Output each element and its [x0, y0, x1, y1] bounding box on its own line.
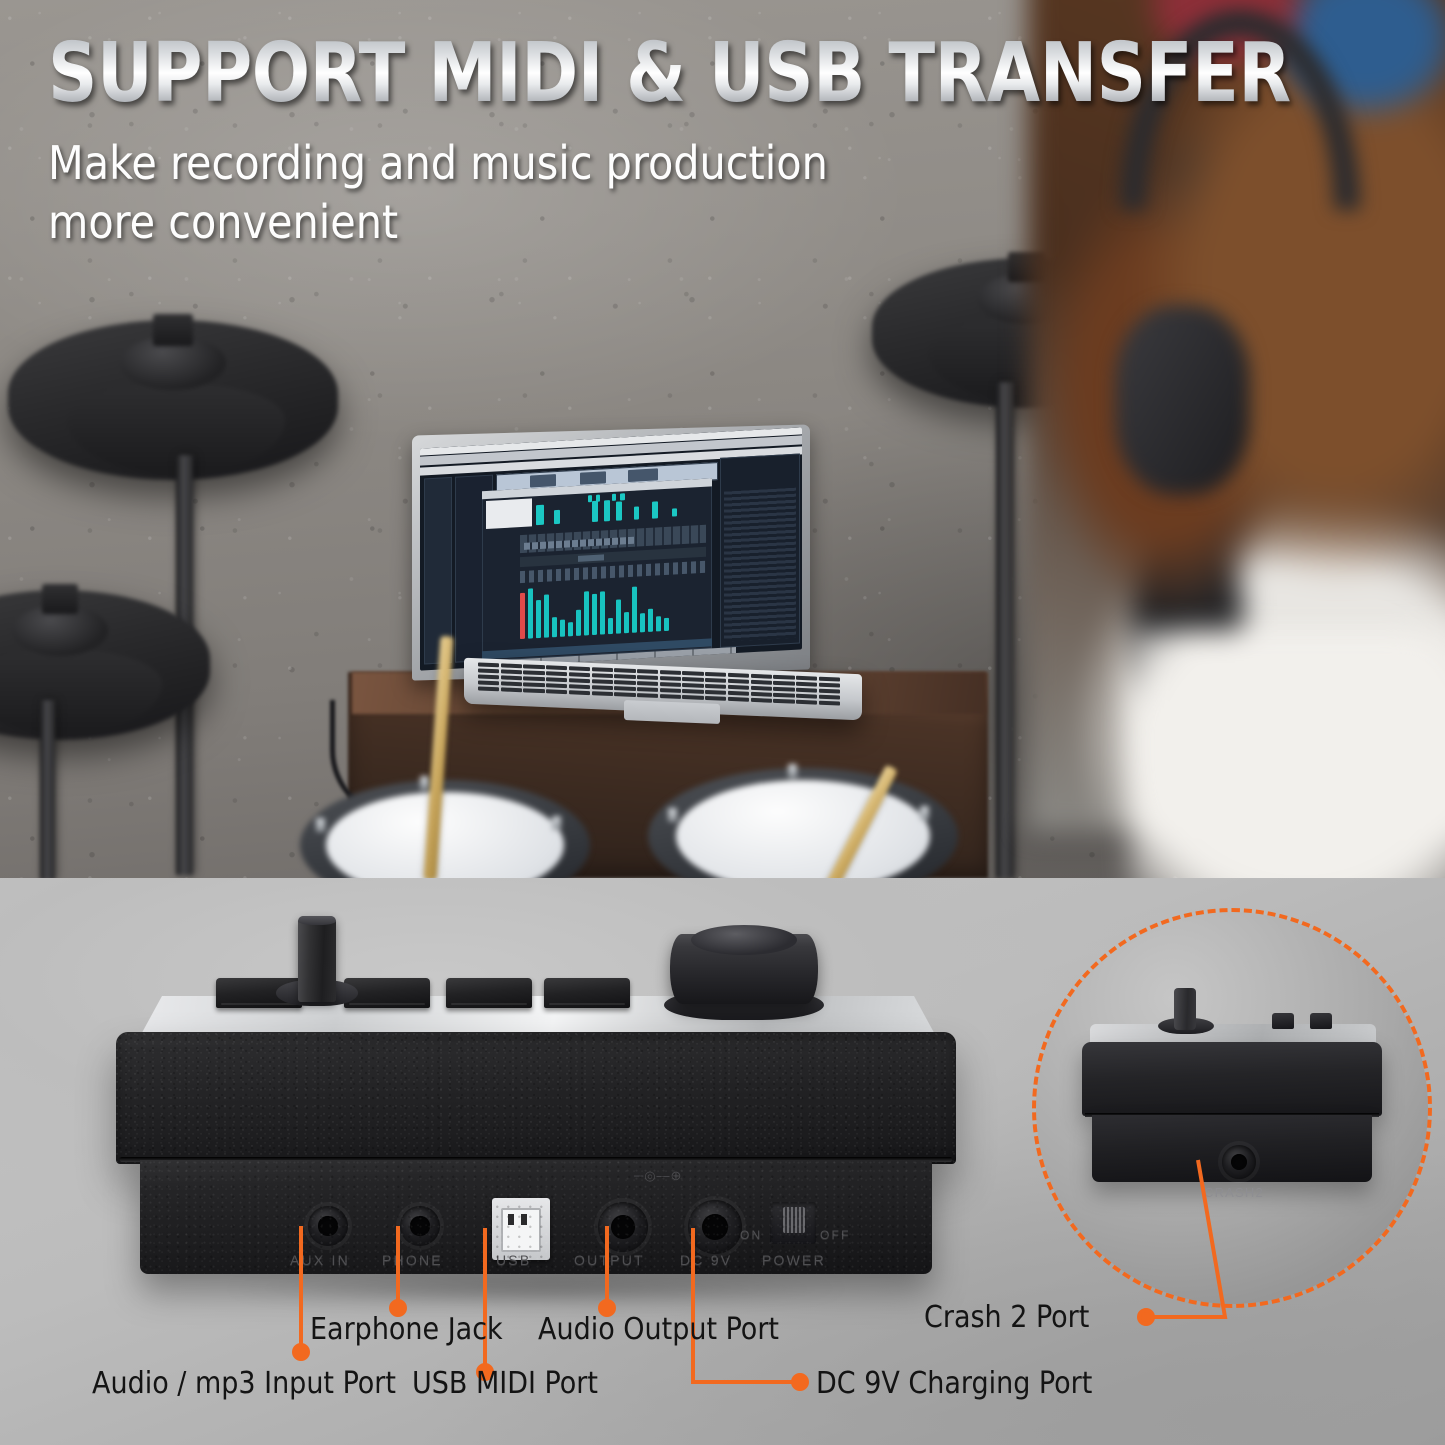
cymbal-stand-right — [996, 382, 1014, 878]
laptop-screen-daw — [420, 427, 802, 670]
hero-subtitle-line-2: more convenient — [48, 193, 1384, 252]
dc-polarity-icon: ─◎—⊕ — [634, 1168, 682, 1184]
silk-usb: USB — [496, 1252, 531, 1268]
cymbal-stand-far-left — [40, 700, 55, 878]
silk-power: POWER — [762, 1252, 826, 1268]
dc-9v-jack[interactable] — [688, 1200, 742, 1254]
callout-label-dc-9v: DC 9V Charging Port — [816, 1366, 1092, 1401]
crash2-inset-magnifier: CRASH2 — [1032, 908, 1432, 1308]
module-drop-shadow — [96, 1268, 976, 1308]
aux-in-jack[interactable] — [308, 1206, 348, 1246]
callout-label-aux-in: Audio / mp3 Input Port — [92, 1366, 396, 1401]
silk-dc-9v: DC 9V — [680, 1252, 732, 1268]
cymbal-pad-left — [8, 320, 338, 480]
silk-switch-off: OFF — [820, 1228, 851, 1242]
module-lower-housing: ─◎—⊕ AUX IN PHONE USB OUTPUT DC 9V POWER… — [140, 1160, 932, 1274]
phone-jack[interactable] — [400, 1206, 440, 1246]
hero-subtitle: Make recording and music production more… — [48, 134, 1384, 252]
silk-switch-on: ON — [740, 1228, 762, 1242]
cymbal-pad-far-left — [0, 590, 210, 740]
callout-label-output: Audio Output Port — [538, 1312, 779, 1347]
module-selector-dial[interactable] — [670, 934, 818, 1004]
callout-label-crash-2: Crash 2 Port — [924, 1300, 1089, 1335]
drum-module-rear-panel: ─◎—⊕ AUX IN PHONE USB OUTPUT DC 9V POWER… — [116, 996, 956, 1274]
callout-label-phone: Earphone Jack — [310, 1312, 503, 1347]
module-upper-housing — [116, 1032, 956, 1164]
silk-aux-in: AUX IN — [290, 1252, 350, 1268]
hero-text-block: SUPPORT MIDI & USB TRANSFER Make recordi… — [48, 35, 1384, 251]
hero-photo-panel: SUPPORT MIDI & USB TRANSFER Make recordi… — [0, 0, 1445, 878]
drummer-torso — [1130, 630, 1445, 878]
page-title: SUPPORT MIDI & USB TRANSFER — [48, 35, 1291, 114]
laptop — [412, 430, 852, 750]
module-button-4[interactable] — [544, 978, 630, 1008]
product-marketing-image: SUPPORT MIDI & USB TRANSFER Make recordi… — [0, 0, 1445, 1445]
usb-midi-port[interactable] — [492, 1198, 550, 1260]
silk-phone: PHONE — [382, 1252, 443, 1268]
callout-label-usb: USB MIDI Port — [412, 1366, 598, 1401]
laptop-lid — [412, 424, 810, 680]
power-switch[interactable] — [770, 1202, 816, 1244]
headphones-earcup — [1115, 305, 1250, 495]
module-volume-knob[interactable] — [298, 916, 336, 1002]
module-button-3[interactable] — [446, 978, 532, 1008]
inset-dashed-outline — [1032, 908, 1432, 1308]
audio-output-jack[interactable] — [598, 1202, 648, 1252]
silk-output: OUTPUT — [574, 1252, 645, 1268]
usb-pins — [508, 1214, 534, 1225]
laptop-trackpad — [624, 700, 720, 724]
hero-subtitle-line-1: Make recording and music production — [48, 134, 1384, 193]
